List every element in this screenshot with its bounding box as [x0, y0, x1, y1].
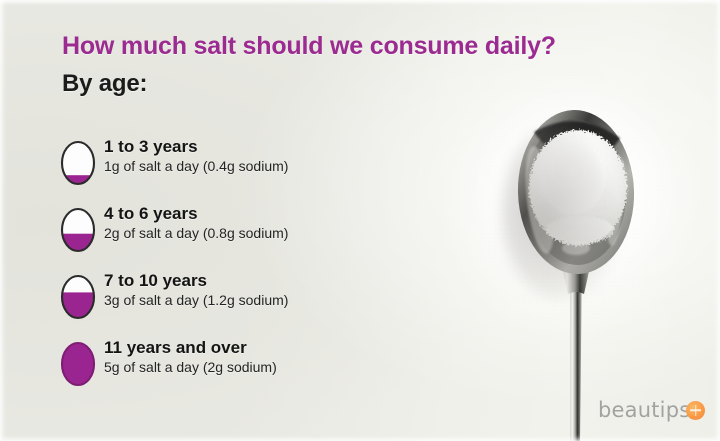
- age-group-text: 1 to 3 years 1g of salt a day (0.4g sodi…: [104, 136, 288, 176]
- age-group-text: 4 to 6 years 2g of salt a day (0.8g sodi…: [104, 203, 288, 243]
- age-group-text: 11 years and over 5g of salt a day (2g s…: [104, 337, 277, 377]
- infographic-canvas: How much salt should we consume daily? B…: [0, 0, 720, 441]
- age-group-label: 4 to 6 years: [104, 203, 288, 224]
- list-item: 4 to 6 years 2g of salt a day (0.8g sodi…: [60, 203, 390, 270]
- pill-indicator-icon: [60, 207, 96, 253]
- age-group-list: 1 to 3 years 1g of salt a day (0.4g sodi…: [60, 136, 390, 404]
- age-group-detail: 1g of salt a day (0.4g sodium): [104, 157, 288, 176]
- page-subtitle: By age:: [62, 70, 147, 98]
- watermark-text: beautips: [598, 398, 690, 422]
- spoon-photo: [430, 80, 720, 441]
- list-item: 11 years and over 5g of salt a day (2g s…: [60, 337, 390, 404]
- orange-plus-badge-icon: [686, 401, 705, 420]
- watermark: beautips: [598, 398, 705, 422]
- list-item: 7 to 10 years 3g of salt a day (1.2g sod…: [60, 270, 390, 337]
- pill-indicator-icon: [60, 341, 96, 387]
- age-group-detail: 5g of salt a day (2g sodium): [104, 358, 277, 377]
- pill-indicator-icon: [60, 274, 96, 320]
- age-group-label: 11 years and over: [104, 337, 277, 358]
- age-group-detail: 3g of salt a day (1.2g sodium): [104, 291, 288, 310]
- list-item: 1 to 3 years 1g of salt a day (0.4g sodi…: [60, 136, 390, 203]
- age-group-detail: 2g of salt a day (0.8g sodium): [104, 224, 288, 243]
- age-group-label: 1 to 3 years: [104, 136, 288, 157]
- age-group-label: 7 to 10 years: [104, 270, 288, 291]
- age-group-text: 7 to 10 years 3g of salt a day (1.2g sod…: [104, 270, 288, 310]
- pill-indicator-icon: [60, 140, 96, 186]
- page-title: How much salt should we consume daily?: [62, 32, 556, 61]
